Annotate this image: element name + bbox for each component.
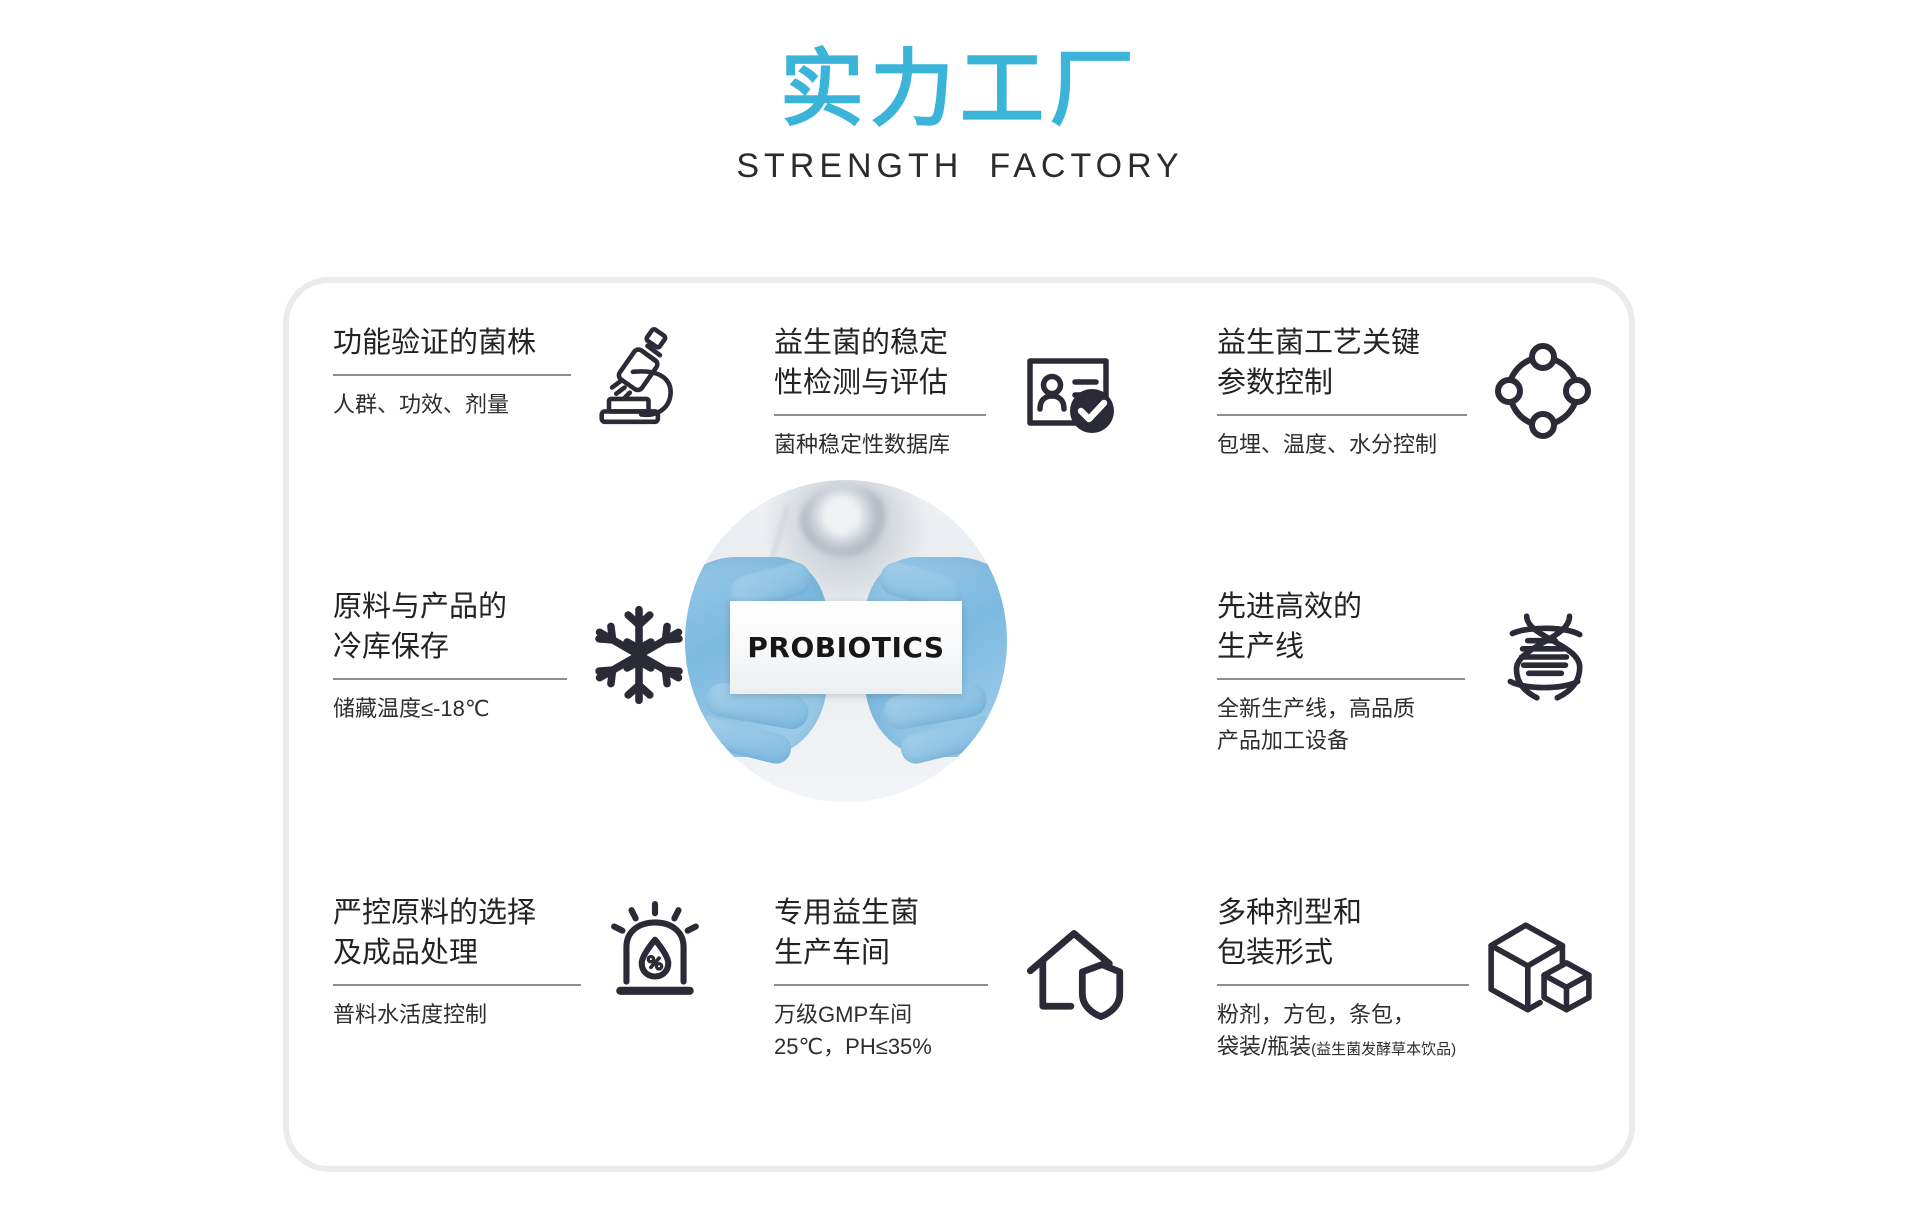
microscope-icon <box>575 315 695 435</box>
feature-head-7-line-1: 专用益生菌 <box>774 893 988 933</box>
feature-divider-5 <box>1217 678 1465 680</box>
feature-sub-3-line-1: 包埋、温度、水分控制 <box>1217 429 1467 461</box>
feature-divider-7 <box>774 984 988 986</box>
id-card-check-icon <box>1010 337 1130 457</box>
feature-divider-8 <box>1217 984 1469 986</box>
feature-head-4-line-1: 原料与产品的 <box>333 587 567 627</box>
feature-sub-8-note: (益生菌发酵草本饮品) <box>1311 1041 1456 1058</box>
feature-head-4-line-2: 冷库保存 <box>333 627 567 667</box>
page-title-en-word-2: FACTORY <box>989 147 1183 185</box>
feature-text-6: 严控原料的选择 及成品处理 普料水活度控制 <box>333 893 581 1031</box>
feature-sub-6-line-1: 普料水活度控制 <box>333 999 581 1031</box>
probiotics-photo: PROBIOTICS <box>685 480 1007 802</box>
snowflake-icon <box>579 595 699 715</box>
network-nodes-icon <box>1483 331 1603 451</box>
feature-head-6-line-1: 严控原料的选择 <box>333 893 581 933</box>
probiotics-card-text: PROBIOTICS <box>747 631 944 664</box>
feature-sub-5-line-1: 全新生产线，高品质 <box>1217 693 1465 725</box>
feature-text-3: 益生菌工艺关键 参数控制 包埋、温度、水分控制 <box>1217 323 1467 461</box>
feature-head-2-line-1: 益生菌的稳定 <box>774 323 986 363</box>
feature-divider-3 <box>1217 414 1467 416</box>
feature-text-4: 原料与产品的 冷库保存 储藏温度≤-18℃ <box>333 587 567 725</box>
feature-head-5-line-1: 先进高效的 <box>1217 587 1465 627</box>
feature-cell-2: 益生菌的稳定 性检测与评估 菌种稳定性数据库 <box>774 323 1130 461</box>
humidity-meter-icon <box>595 891 715 1011</box>
features-card: 功能验证的菌株 人群、功效、剂量 <box>283 277 1635 1172</box>
feature-text-1: 功能验证的菌株 人群、功效、剂量 <box>333 323 571 421</box>
feature-cell-3: 益生菌工艺关键 参数控制 包埋、温度、水分控制 <box>1217 323 1603 461</box>
feature-sub-4-line-1: 储藏温度≤-18℃ <box>333 693 567 725</box>
page-title-en: STRENGTHFACTORY <box>0 146 1920 186</box>
feature-sub-5-line-2: 产品加工设备 <box>1217 725 1465 757</box>
feature-text-7: 专用益生菌 生产车间 万级GMP车间 25℃，PH≤35% <box>774 893 988 1063</box>
feature-head-8-line-1: 多种剂型和 <box>1217 893 1469 933</box>
stethoscope-icon <box>800 486 892 556</box>
feature-cell-5: 先进高效的 生产线 全新生产线，高品质 产品加工设备 <box>1217 587 1603 757</box>
feature-sub-8-line-1: 粉剂，方包，条包， <box>1217 999 1469 1031</box>
feature-head-1-line-1: 功能验证的菌株 <box>333 323 571 363</box>
feature-head-3-line-1: 益生菌工艺关键 <box>1217 323 1467 363</box>
package-box-icon <box>1479 909 1599 1029</box>
probiotics-card: PROBIOTICS <box>730 601 962 694</box>
feature-head-3-line-2: 参数控制 <box>1217 363 1467 403</box>
feature-sub-1-line-1: 人群、功效、剂量 <box>333 389 571 421</box>
house-shield-icon <box>1014 915 1134 1035</box>
feature-sub-7-line-1: 万级GMP车间 <box>774 999 988 1031</box>
feature-head-2-line-2: 性检测与评估 <box>774 363 986 403</box>
feature-sub-2-line-1: 菌种稳定性数据库 <box>774 429 986 461</box>
feature-head-5-line-2: 生产线 <box>1217 627 1465 667</box>
feature-sub-8-main: 袋装/瓶装 <box>1217 1034 1311 1059</box>
feature-text-2: 益生菌的稳定 性检测与评估 菌种稳定性数据库 <box>774 323 986 461</box>
feature-divider-4 <box>333 678 567 680</box>
feature-text-5: 先进高效的 生产线 全新生产线，高品质 产品加工设备 <box>1217 587 1465 757</box>
page-title-en-word-1: STRENGTH <box>736 147 963 185</box>
page-header: 实力工厂 STRENGTHFACTORY <box>0 0 1920 186</box>
feature-head-6-line-2: 及成品处理 <box>333 933 581 973</box>
feature-divider-1 <box>333 374 571 376</box>
feature-cell-7: 专用益生菌 生产车间 万级GMP车间 25℃，PH≤35% <box>774 893 1134 1063</box>
feature-cell-4: 原料与产品的 冷库保存 储藏温度≤-18℃ <box>333 587 699 725</box>
feature-head-8-line-2: 包装形式 <box>1217 933 1469 973</box>
page-title-cn: 实力工厂 <box>0 44 1920 134</box>
feature-head-7-line-2: 生产车间 <box>774 933 988 973</box>
photo-content: PROBIOTICS <box>685 480 1007 802</box>
feature-divider-6 <box>333 984 581 986</box>
feature-cell-1: 功能验证的菌株 人群、功效、剂量 <box>333 323 695 435</box>
feature-cell-8: 多种剂型和 包装形式 粉剂，方包，条包， 袋装/瓶装(益生菌发酵草本饮品) <box>1217 893 1599 1066</box>
feature-divider-2 <box>774 414 986 416</box>
feature-cell-6: 严控原料的选择 及成品处理 普料水活度控制 <box>333 893 715 1031</box>
feature-text-8: 多种剂型和 包装形式 粉剂，方包，条包， 袋装/瓶装(益生菌发酵草本饮品) <box>1217 893 1469 1066</box>
feature-sub-8-line-2: 袋装/瓶装(益生菌发酵草本饮品) <box>1217 1031 1469 1066</box>
dna-helix-icon <box>1483 597 1603 717</box>
features-grid: 功能验证的菌株 人群、功效、剂量 <box>289 283 1629 1166</box>
feature-sub-7-line-2: 25℃，PH≤35% <box>774 1031 988 1063</box>
